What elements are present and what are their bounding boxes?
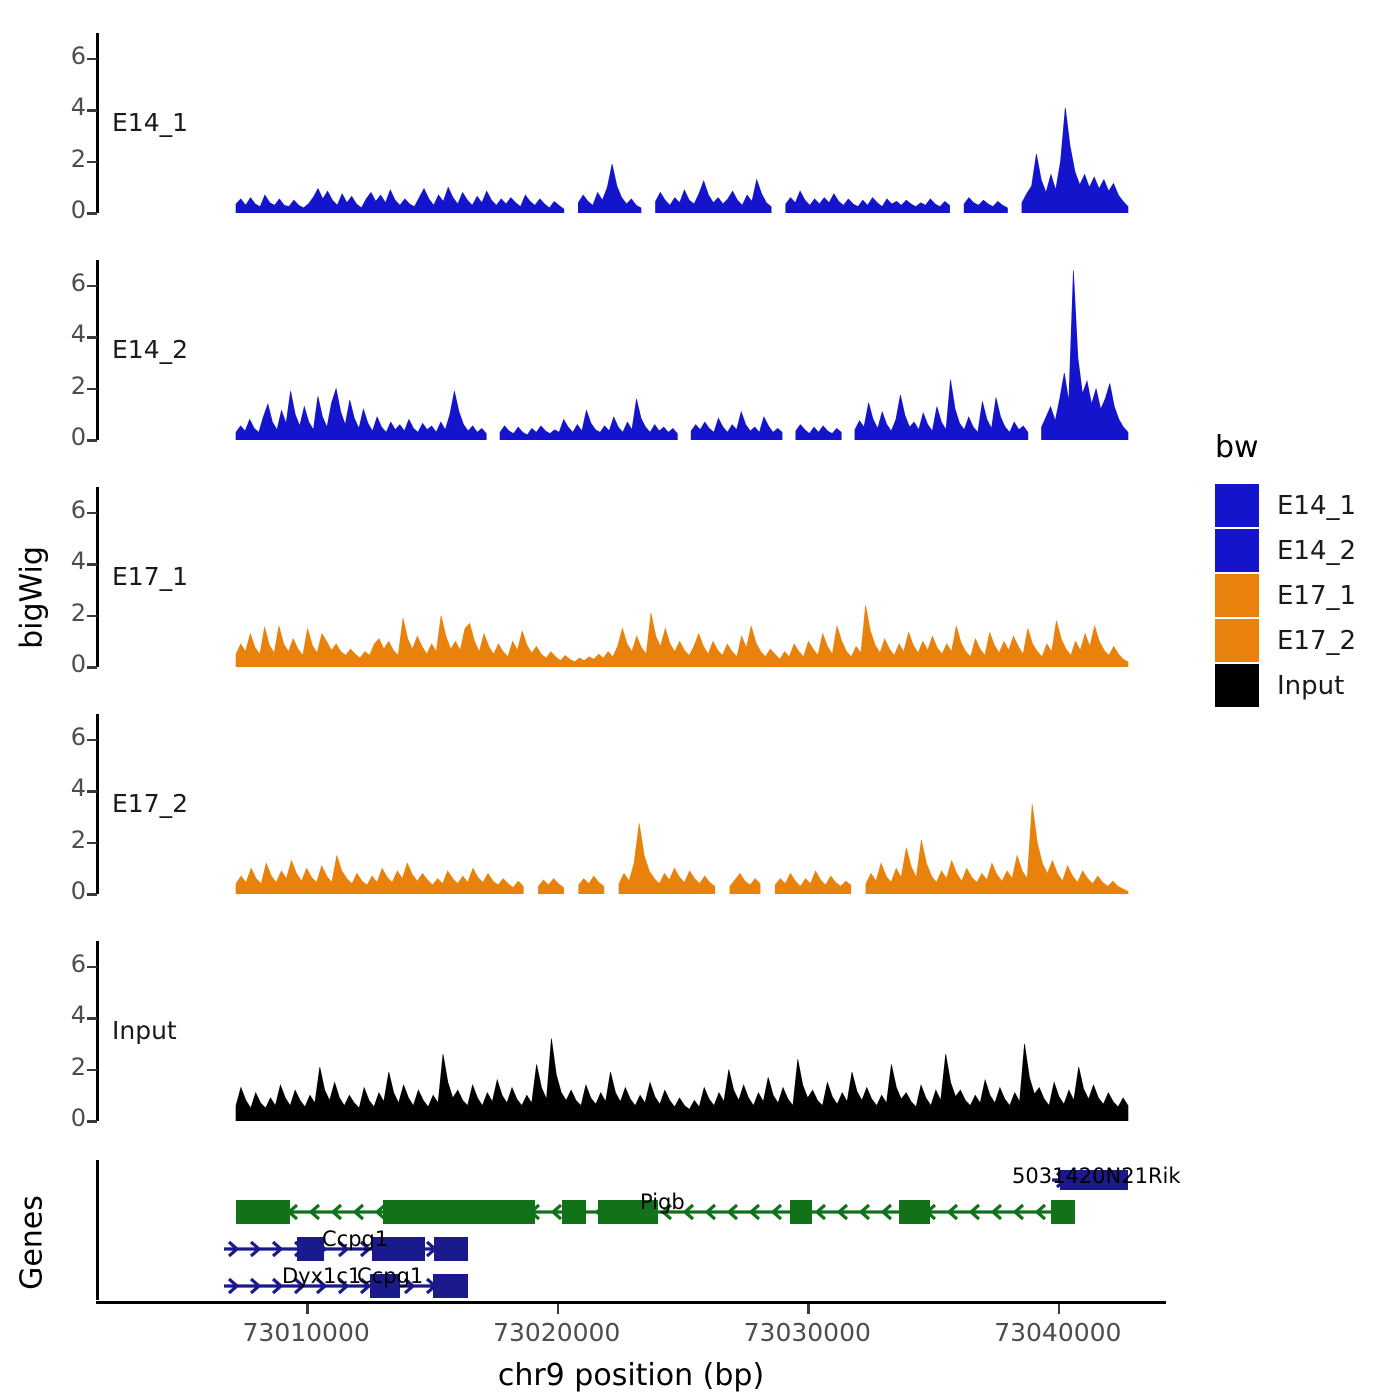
y-tick-label: 2 bbox=[46, 601, 86, 625]
gene-label-ccpg1: Ccpg1 bbox=[322, 1227, 388, 1251]
x-tick-label: 73020000 bbox=[457, 1318, 657, 1347]
y-tick-label: 6 bbox=[46, 44, 86, 68]
y-tick-label: 4 bbox=[46, 322, 86, 346]
y-tick-label: 0 bbox=[46, 652, 86, 676]
legend-item-e17_1[interactable]: E17_1 bbox=[1215, 573, 1356, 618]
y-axis-title: bigWig bbox=[15, 528, 50, 668]
signal-track-e17_2 bbox=[96, 714, 1166, 894]
legend-item-e14_2[interactable]: E14_2 bbox=[1215, 528, 1356, 573]
legend-items: E14_1E14_2E17_1E17_2Input bbox=[1215, 483, 1356, 708]
gene-label-ccpg1-2: Ccpg1 bbox=[357, 1264, 423, 1288]
y-tick-label: 0 bbox=[46, 425, 86, 449]
y-tick-label: 6 bbox=[46, 498, 86, 522]
y-tick-label: 0 bbox=[46, 198, 86, 222]
y-tick-label: 4 bbox=[46, 549, 86, 573]
genes-axis-title: Genes bbox=[15, 1173, 50, 1313]
y-tick-label: 4 bbox=[46, 95, 86, 119]
legend-swatch bbox=[1215, 574, 1259, 617]
legend-label: Input bbox=[1277, 671, 1344, 701]
genes-axis-line bbox=[96, 1160, 99, 1300]
gene-label-5031420n21rik: 5031420N21Rik bbox=[1012, 1164, 1181, 1188]
x-tick-label: 73040000 bbox=[958, 1318, 1158, 1347]
legend-swatch bbox=[1215, 664, 1259, 707]
figure-root: bigWig Genes 0246E14_10246E14_20246E17_1… bbox=[0, 0, 1400, 1400]
legend-item-input[interactable]: Input bbox=[1215, 663, 1356, 708]
legend-label: E14_2 bbox=[1277, 536, 1356, 566]
legend-swatch bbox=[1215, 619, 1259, 662]
y-tick-label: 6 bbox=[46, 725, 86, 749]
y-tick-label: 2 bbox=[46, 828, 86, 852]
y-tick-label: 2 bbox=[46, 1055, 86, 1079]
y-tick-label: 2 bbox=[46, 147, 86, 171]
gene-label-pigb: Pigb bbox=[640, 1190, 685, 1214]
x-tick bbox=[1058, 1304, 1061, 1314]
legend: bw E14_1E14_2E17_1E17_2Input bbox=[1215, 430, 1356, 708]
legend-label: E17_1 bbox=[1277, 581, 1356, 611]
x-tick bbox=[557, 1304, 560, 1314]
signal-track-e14_2 bbox=[96, 260, 1166, 440]
y-tick-label: 6 bbox=[46, 952, 86, 976]
legend-item-e17_2[interactable]: E17_2 bbox=[1215, 618, 1356, 663]
signal-track-input bbox=[96, 941, 1166, 1121]
x-tick bbox=[306, 1304, 309, 1314]
x-tick-label: 73030000 bbox=[707, 1318, 907, 1347]
x-axis-title: chr9 position (bp) bbox=[96, 1358, 1166, 1393]
gene-label-dyx1c1: Dyx1c1 bbox=[282, 1264, 361, 1288]
y-tick-label: 6 bbox=[46, 271, 86, 295]
x-tick bbox=[807, 1304, 810, 1314]
y-tick-label: 0 bbox=[46, 1106, 86, 1130]
y-tick-label: 4 bbox=[46, 776, 86, 800]
legend-label: E14_1 bbox=[1277, 491, 1356, 521]
x-tick-label: 73010000 bbox=[206, 1318, 406, 1347]
signal-track-e17_1 bbox=[96, 487, 1166, 667]
legend-item-e14_1[interactable]: E14_1 bbox=[1215, 483, 1356, 528]
legend-swatch bbox=[1215, 529, 1259, 572]
y-tick-label: 4 bbox=[46, 1003, 86, 1027]
legend-label: E17_2 bbox=[1277, 626, 1356, 656]
legend-title: bw bbox=[1215, 430, 1356, 465]
legend-swatch bbox=[1215, 484, 1259, 527]
y-tick-label: 0 bbox=[46, 879, 86, 903]
y-tick-label: 2 bbox=[46, 374, 86, 398]
x-axis-line bbox=[96, 1301, 1166, 1304]
signal-track-e14_1 bbox=[96, 33, 1166, 213]
